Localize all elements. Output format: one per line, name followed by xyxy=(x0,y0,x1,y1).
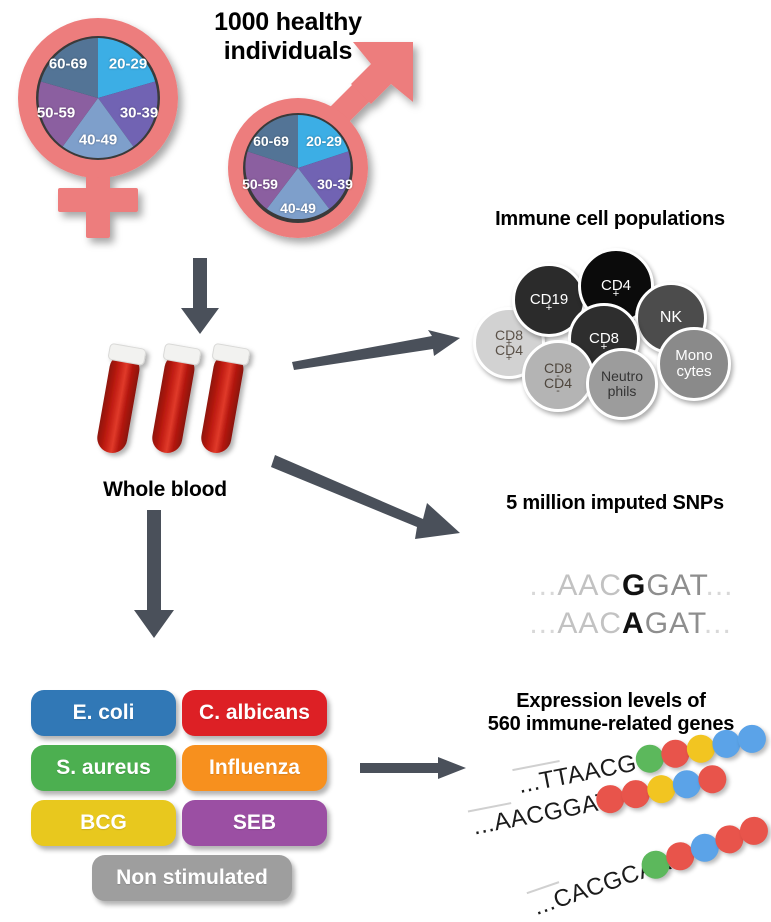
female-pie-label-40-49: 40-49 xyxy=(79,132,117,149)
whole-blood-label: Whole blood xyxy=(75,478,255,502)
female-symbol-shape xyxy=(10,8,200,248)
arrow-down-blood-to-stimuli xyxy=(130,510,180,640)
male-pie-label-50-59: 50-59 xyxy=(242,176,278,192)
stimulus-seb[interactable]: SEB xyxy=(182,800,327,846)
snp-row-2-prefix: ... xyxy=(529,607,557,640)
male-pie-label-40-49: 40-49 xyxy=(280,200,316,216)
stimulus-bcg[interactable]: BCG xyxy=(31,800,176,846)
expression-heading-line1: Expression levels of xyxy=(455,690,767,713)
female-gender-symbol: 20-29 30-39 40-49 50-59 60-69 xyxy=(10,8,200,248)
snp-row-2-right: GAT xyxy=(645,607,704,640)
immune-cell-cd8n-cd4n-line1: CD8- xyxy=(544,361,572,376)
immune-cell-monocytes-line2: cytes xyxy=(675,364,713,380)
arrow-right-blood-to-immune-cells xyxy=(292,330,460,372)
cohort-heading-line1: 1000 healthy xyxy=(168,8,408,37)
immune-cell-cd8p-label: CD8+ xyxy=(589,331,619,347)
arrow-down-cohort-to-blood xyxy=(175,258,225,336)
immune-cell-neutrophils-line2: phils xyxy=(601,384,643,399)
male-pie-label-20-29: 20-29 xyxy=(306,133,342,149)
snp-row-2-variant: A xyxy=(622,607,645,640)
expression-heading: Expression levels of 560 immune-related … xyxy=(455,690,767,736)
male-pie-label-30-39: 30-39 xyxy=(317,176,353,192)
immune-cell-neutrophils: Neutro phils xyxy=(586,348,658,420)
whole-blood-tubes xyxy=(95,340,285,470)
immune-cell-cd8p-cd4p-line1: CD8+ xyxy=(495,328,523,343)
expression-strands: ...TTAACGG ...AACGGAT ...CACGCAA xyxy=(450,745,771,915)
stimulus-influenza[interactable]: Influenza xyxy=(182,745,327,791)
blood-tube-group xyxy=(95,340,285,470)
female-pie-label-30-39: 30-39 xyxy=(120,105,158,122)
snp-row-2: ...AACAGAT... xyxy=(492,573,732,675)
stimulus-non-stimulated[interactable]: Non stimulated xyxy=(92,855,292,901)
immune-heading: Immune cell populations xyxy=(455,208,765,231)
arrow-diagonal-blood-to-snps xyxy=(275,455,460,545)
stimulus-c-albicans[interactable]: C. albicans xyxy=(182,690,327,736)
strand-2-bead-5 xyxy=(696,763,729,796)
snp-row-2-suffix: ... xyxy=(704,607,732,640)
stimulus-e-coli[interactable]: E. coli xyxy=(31,690,176,736)
immune-cell-cluster: CD8+ CD4+ CD19+ CD4+ NK CD8+ CD8- CD4- N… xyxy=(468,245,763,410)
immune-cell-monocytes: Mono cytes xyxy=(657,327,731,401)
female-pie-label-50-59: 50-59 xyxy=(37,105,75,122)
male-gender-symbol: 20-29 30-39 40-49 50-59 60-69 xyxy=(205,40,420,255)
immune-cell-cd8n-cd4n: CD8- CD4- xyxy=(522,340,594,412)
snps-heading: 5 million imputed SNPs xyxy=(470,492,760,515)
immune-cell-neutrophils-line1: Neutro xyxy=(601,369,643,384)
stimulus-s-aureus[interactable]: S. aureus xyxy=(31,745,176,791)
male-pie-label-60-69: 60-69 xyxy=(253,133,289,149)
immune-cell-nk-label: NK xyxy=(660,310,682,327)
female-pie-label-60-69: 60-69 xyxy=(49,56,87,73)
immune-cell-cd8p-cd4p-line2: CD4+ xyxy=(495,343,523,358)
figure-canvas: 1000 healthy individuals xyxy=(0,0,771,922)
immune-cell-monocytes-line1: Mono xyxy=(675,348,713,364)
female-pie-label-20-29: 20-29 xyxy=(109,56,147,73)
immune-cell-cd4p-label: CD4+ xyxy=(601,278,631,294)
snp-row-2-left: AAC xyxy=(557,607,622,640)
immune-cell-cd19p-label: CD19+ xyxy=(530,292,568,308)
immune-cell-cd8n-cd4n-line2: CD4- xyxy=(544,376,572,391)
